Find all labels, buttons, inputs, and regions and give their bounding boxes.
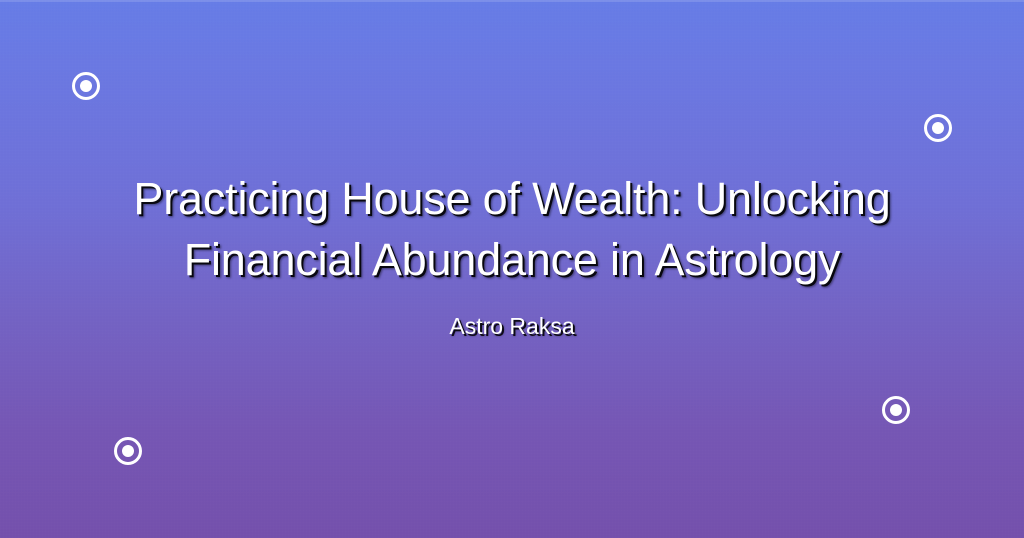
ring-dot-icon-top-right: [924, 114, 952, 142]
title-block: Practicing House of Wealth: Unlocking Fi…: [0, 168, 1024, 340]
ring-dot-icon-top-left: [72, 72, 100, 100]
title-slide: Practicing House of Wealth: Unlocking Fi…: [0, 0, 1024, 538]
ring-dot-icon-bottom-right: [882, 396, 910, 424]
page-title: Practicing House of Wealth: Unlocking Fi…: [60, 168, 964, 290]
slide-subtitle: Astro Raksa: [60, 312, 964, 340]
top-edge-highlight: [0, 0, 1024, 2]
ring-dot-icon-bottom-left: [114, 437, 142, 465]
